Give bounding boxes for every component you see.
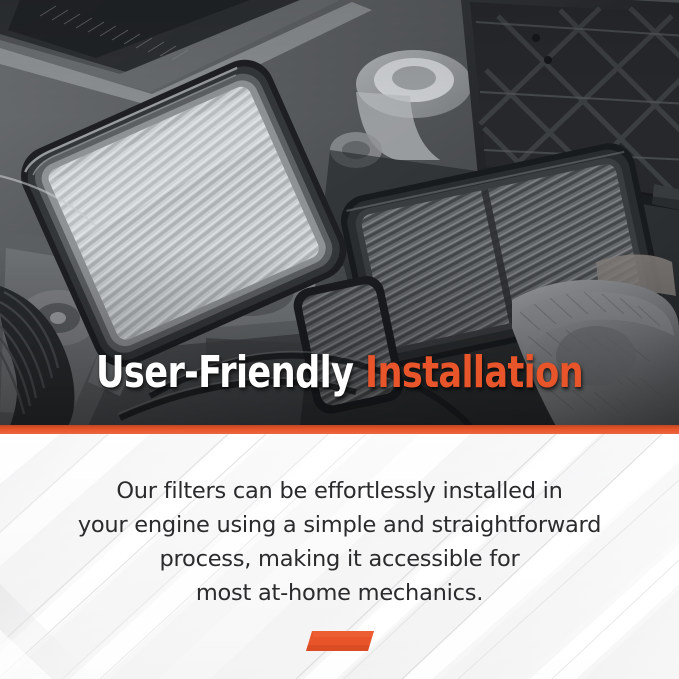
- headline-primary: User-Friendly: [96, 347, 353, 398]
- description-text: Our filters can be effortlessly installe…: [0, 474, 679, 610]
- description-line-3: process, making it accessible for: [0, 542, 679, 576]
- headline-accent: Installation: [365, 347, 583, 398]
- divider-shading: [0, 425, 679, 434]
- description-line-2: your engine using a simple and straightf…: [0, 508, 679, 542]
- description-line-1: Our filters can be effortlessly installe…: [0, 474, 679, 508]
- orange-parallelogram-accent: [306, 630, 374, 652]
- description-line-4: most at-home mechanics.: [0, 576, 679, 610]
- headline: User-Friendly Installation: [68, 349, 611, 397]
- description-panel: Our filters can be effortlessly installe…: [0, 434, 679, 679]
- orange-divider-bar: [0, 425, 679, 434]
- product-feature-banner: User-Friendly Installation: [0, 0, 679, 679]
